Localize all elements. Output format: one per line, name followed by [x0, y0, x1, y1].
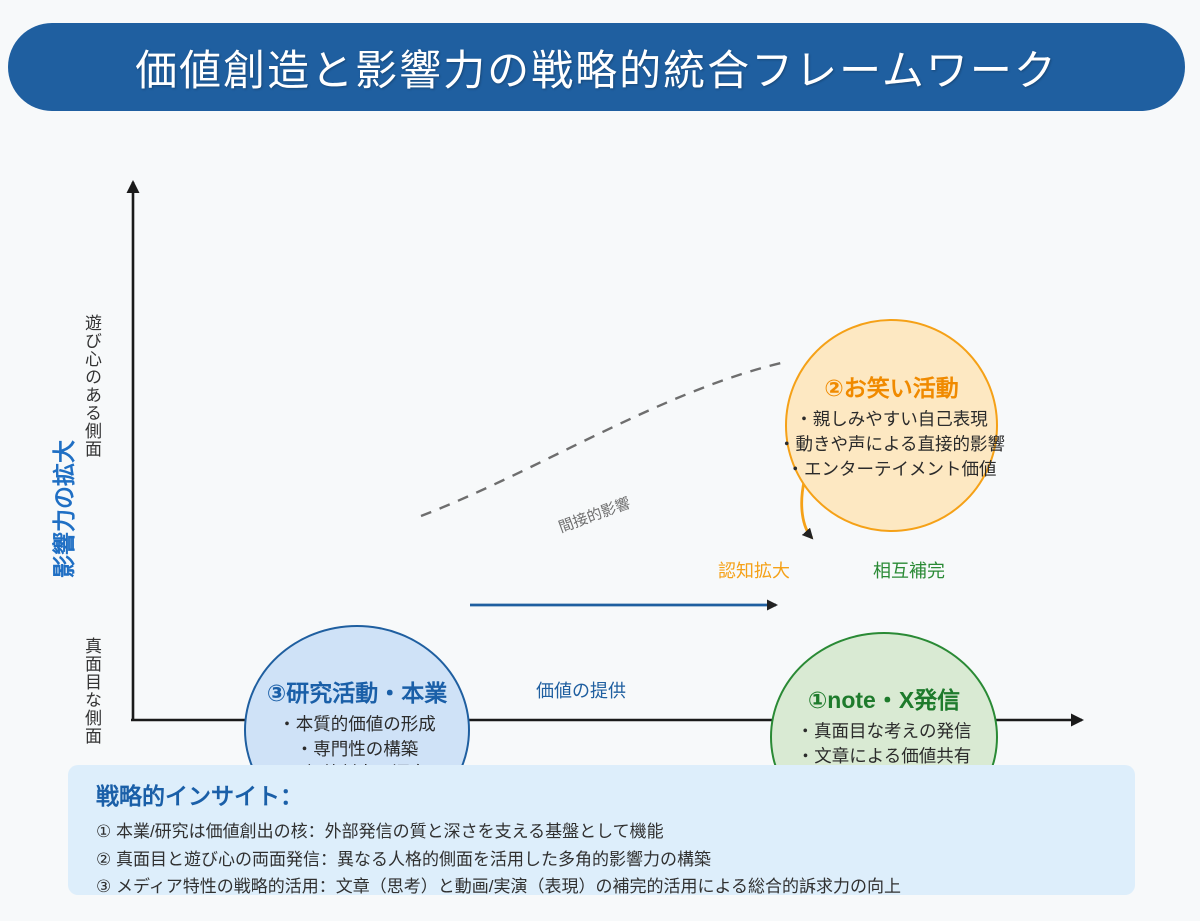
edge-label-value-provide: 価値の提供 — [536, 677, 626, 703]
insight-line: ② 真面目と遊び心の両面発信：異なる人格的側面を活用した多角的影響力の構築 — [96, 846, 1111, 874]
edge-indirect-impact — [421, 363, 781, 516]
node-kenkyu-item: ・本質的価値の形成 — [278, 712, 436, 737]
node-owarai-item: ・親しみやすい自己表現 — [778, 407, 1005, 432]
insight-line: ① 本業/研究は価値創出の核：外部発信の質と深さを支える基盤として機能 — [96, 818, 1111, 846]
edge-label-mutual-complete: 相互補完 — [873, 557, 945, 583]
node-owarai-title: ②お笑い活動 — [824, 369, 958, 403]
strategic-insight-panel: 戦略的インサイト： ① 本業/研究は価値創出の核：外部発信の質と深さを支える基盤… — [68, 765, 1135, 895]
node-kenkyu-title: ③研究活動・本業 — [267, 674, 447, 708]
diagram-canvas: 影響力の拡大 遊び心のある側面 真面目な側面 内的価値構築 価値創出の方向性 外… — [0, 120, 1200, 760]
page-title-bar: 価値創造と影響力の戦略的統合フレームワーク — [8, 23, 1185, 111]
node-owarai-item: ・エンターテイメント価値 — [778, 457, 1005, 482]
edge-label-awareness-expand: 認知拡大 — [718, 557, 790, 583]
y-axis-tick-bottom: 真面目な側面 — [79, 637, 104, 745]
node-note-title: ①note・X発信 — [808, 681, 960, 715]
framework-diagram: 価値創造と影響力の戦略的統合フレームワーク — [0, 0, 1200, 921]
node-owarai-items: ・親しみやすい自己表現 ・動きや声による直接的影響 ・エンターテイメント価値 — [778, 407, 1005, 482]
node-owarai-katsudo[interactable]: ②お笑い活動 ・親しみやすい自己表現 ・動きや声による直接的影響 ・エンターテイ… — [785, 319, 998, 532]
page-title: 価値創造と影響力の戦略的統合フレームワーク — [135, 37, 1058, 98]
node-kenkyu-item: ・専門性の構築 — [278, 737, 436, 762]
insight-line: ③ メディア特性の戦略的活用：文章（思考）と動画/実演（表現）の補完的活用による… — [96, 873, 1111, 901]
node-owarai-item: ・動きや声による直接的影響 — [778, 432, 1005, 457]
y-axis-title: 影響力の拡大 — [45, 399, 79, 619]
node-note-item: ・真面目な考えの発信 — [797, 719, 972, 744]
diagram-vectors — [0, 120, 1200, 760]
y-axis-tick-top: 遊び心のある側面 — [79, 314, 104, 458]
insight-heading: 戦略的インサイト： — [96, 777, 1111, 811]
